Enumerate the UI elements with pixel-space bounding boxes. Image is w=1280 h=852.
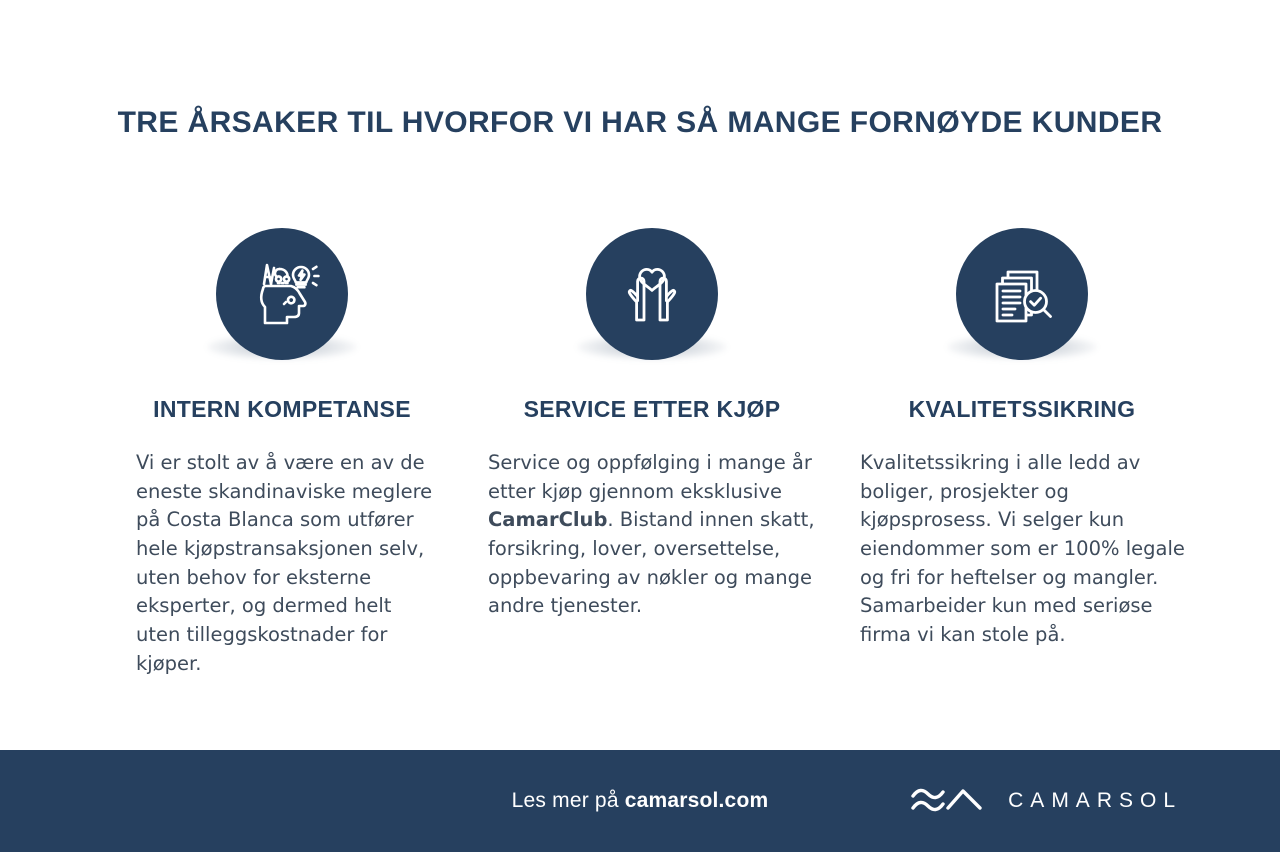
feature-heading-2: SERVICE ETTER KJØP bbox=[524, 396, 781, 423]
feature-columns: INTERN KOMPETANSE Vi er stolt av å være … bbox=[112, 228, 1192, 678]
footer-cta-domain[interactable]: camarsol.com bbox=[625, 789, 769, 813]
feature-column-kvalitetssikring: KVALITETSSIKRING Kvalitetssikring i alle… bbox=[852, 228, 1192, 650]
feature-body-2-bold: CamarClub bbox=[488, 508, 607, 531]
documents-check-search-icon bbox=[985, 257, 1059, 331]
feature-heading-1: INTERN KOMPETANSE bbox=[153, 396, 411, 423]
icon-circle-2 bbox=[586, 228, 718, 360]
hands-heart-icon bbox=[615, 257, 689, 331]
footer-bar: Les mer på camarsol.com CAMARSOL bbox=[0, 750, 1280, 852]
brand-lockup: CAMARSOL bbox=[910, 783, 1182, 819]
feature-heading-3: KVALITETSSIKRING bbox=[909, 396, 1136, 423]
feature-body-2: Service og oppfølging i mange år etter k… bbox=[482, 449, 822, 621]
icon-circle-3 bbox=[956, 228, 1088, 360]
feature-column-intern-kompetanse: INTERN KOMPETANSE Vi er stolt av å være … bbox=[112, 228, 452, 678]
brand-wordmark: CAMARSOL bbox=[1008, 789, 1182, 813]
icon-wrapper-1 bbox=[216, 228, 348, 378]
icon-circle-1 bbox=[216, 228, 348, 360]
slide-root: TRE ÅRSAKER TIL HVORFOR VI HAR SÅ MANGE … bbox=[0, 0, 1280, 852]
icon-wrapper-2 bbox=[586, 228, 718, 378]
feature-body-3-text: Kvalitetssikring i alle ledd av boliger,… bbox=[860, 451, 1185, 646]
feature-body-1-text: Vi er stolt av å være en av de eneste sk… bbox=[136, 451, 432, 675]
wave-roof-logo-icon bbox=[910, 783, 986, 819]
footer-inner: Les mer på camarsol.com CAMARSOL bbox=[0, 750, 1280, 852]
feature-column-service-etter-kjop: SERVICE ETTER KJØP Service og oppfølging… bbox=[482, 228, 822, 621]
feature-body-3: Kvalitetssikring i alle ledd av boliger,… bbox=[852, 449, 1192, 650]
footer-cta-prefix: Les mer på bbox=[512, 789, 619, 813]
head-ideas-icon bbox=[243, 255, 321, 333]
page-title: TRE ÅRSAKER TIL HVORFOR VI HAR SÅ MANGE … bbox=[0, 106, 1280, 140]
feature-body-2-pre: Service og oppfølging i mange år etter k… bbox=[488, 451, 812, 503]
feature-body-1: Vi er stolt av å være en av de eneste sk… bbox=[112, 449, 452, 678]
icon-wrapper-3 bbox=[956, 228, 1088, 378]
